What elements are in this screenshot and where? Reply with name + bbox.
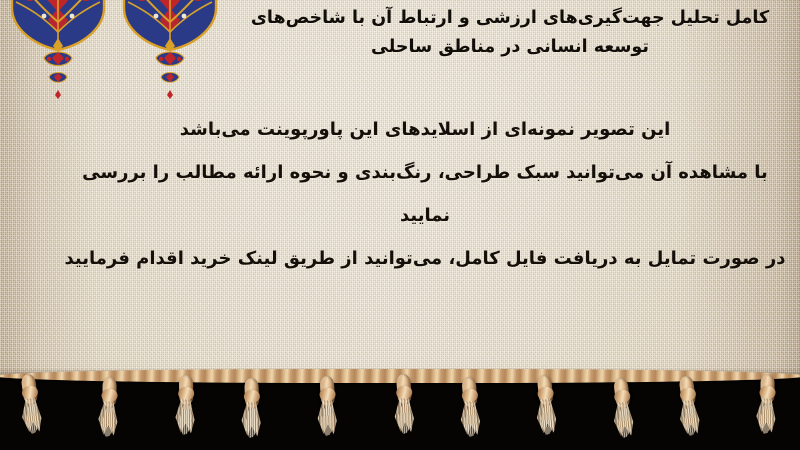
slide-title: کامل تحلیل جهت‌گیری‌های ارزشی و ارتباط آ… <box>225 4 795 62</box>
fringe-tassel <box>170 374 200 449</box>
fringe-tassel <box>608 377 638 450</box>
title-line-2: توسعه انسانی در مناطق ساحلی <box>225 33 795 62</box>
slide-canvas: کامل تحلیل جهت‌گیری‌های ارزشی و ارتباط آ… <box>0 0 800 450</box>
fringe-tassel <box>532 375 561 450</box>
fringe-tassel <box>92 376 123 450</box>
fringe-tassel <box>237 378 266 450</box>
fringe-tassel <box>313 376 340 450</box>
slide-body: این تصویر نمونه‌ای از اسلایدهای این پاور… <box>60 108 790 280</box>
fringe-tassel <box>15 373 46 449</box>
fringe-tassel <box>750 373 781 449</box>
body-line-2: با مشاهده آن می‌توانید سبک طراحی، رنگ‌بن… <box>60 151 790 237</box>
fringe-tassel <box>673 375 704 450</box>
text-layer: کامل تحلیل جهت‌گیری‌های ارزشی و ارتباط آ… <box>0 0 800 392</box>
body-line-1: این تصویر نمونه‌ای از اسلایدهای این پاور… <box>60 108 790 151</box>
title-line-1: کامل تحلیل جهت‌گیری‌های ارزشی و ارتباط آ… <box>225 4 795 33</box>
body-line-3: در صورت تمایل به دریافت فایل کامل، می‌تو… <box>60 237 790 280</box>
fringe-tassel <box>456 377 483 450</box>
fringe-tassel <box>391 374 417 448</box>
